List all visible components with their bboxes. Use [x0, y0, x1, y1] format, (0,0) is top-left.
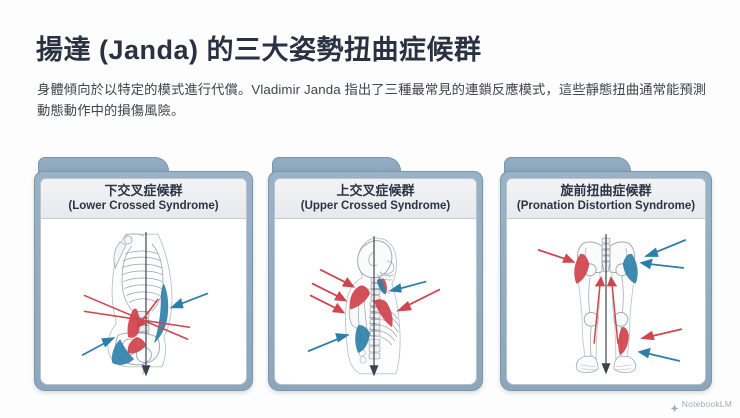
card-title-en: (Pronation Distortion Syndrome)	[517, 199, 695, 214]
card-title-zh: 下交叉症候群	[104, 183, 182, 199]
folder-shell: 旋前扭曲症候群 (Pronation Distortion Syndrome)	[500, 171, 712, 391]
card-header: 旋前扭曲症候群 (Pronation Distortion Syndrome)	[507, 179, 705, 219]
slide-canvas: 揚達 (Janda) 的三大姿勢扭曲症候群 身體傾向於以特定的模式進行代償。Vl…	[0, 0, 740, 413]
lateral-head-neck-thorax-anatomy-svg	[275, 219, 476, 384]
syndrome-card-row: 下交叉症候群 (Lower Crossed Syndrome)	[0, 0, 740, 413]
folder-shell: 上交叉症候群 (Upper Crossed Syndrome)	[268, 171, 483, 391]
lateral-pelvis-lumbar-anatomy-svg	[41, 219, 246, 384]
card-inner: 上交叉症候群 (Upper Crossed Syndrome)	[274, 178, 477, 385]
card-title-zh: 旋前扭曲症候群	[560, 183, 651, 199]
footer-watermark: NotebookLM	[670, 399, 732, 409]
card-title-zh: 上交叉症候群	[336, 183, 414, 199]
notebooklm-label: NotebookLM	[682, 399, 732, 409]
card-header: 上交叉症候群 (Upper Crossed Syndrome)	[275, 179, 476, 219]
card-inner: 下交叉症候群 (Lower Crossed Syndrome)	[40, 178, 247, 385]
syndrome-card-pronation-distortion[interactable]: 旋前扭曲症候群 (Pronation Distortion Syndrome)	[500, 157, 712, 391]
card-title-en: (Upper Crossed Syndrome)	[301, 199, 451, 214]
card-title-en: (Lower Crossed Syndrome)	[68, 199, 218, 214]
anterior-lower-limb-anatomy-svg	[507, 219, 705, 384]
card-inner: 旋前扭曲症候群 (Pronation Distortion Syndrome)	[506, 178, 706, 385]
notebooklm-spark-icon	[670, 400, 679, 409]
card-header: 下交叉症候群 (Lower Crossed Syndrome)	[41, 179, 246, 219]
syndrome-card-lower-crossed[interactable]: 下交叉症候群 (Lower Crossed Syndrome)	[34, 157, 253, 391]
syndrome-card-upper-crossed[interactable]: 上交叉症候群 (Upper Crossed Syndrome)	[268, 157, 483, 391]
folder-shell: 下交叉症候群 (Lower Crossed Syndrome)	[34, 171, 253, 391]
card-illustration-pronation-distortion	[507, 219, 705, 384]
card-illustration-upper-crossed	[275, 219, 476, 384]
card-illustration-lower-crossed	[41, 219, 246, 384]
